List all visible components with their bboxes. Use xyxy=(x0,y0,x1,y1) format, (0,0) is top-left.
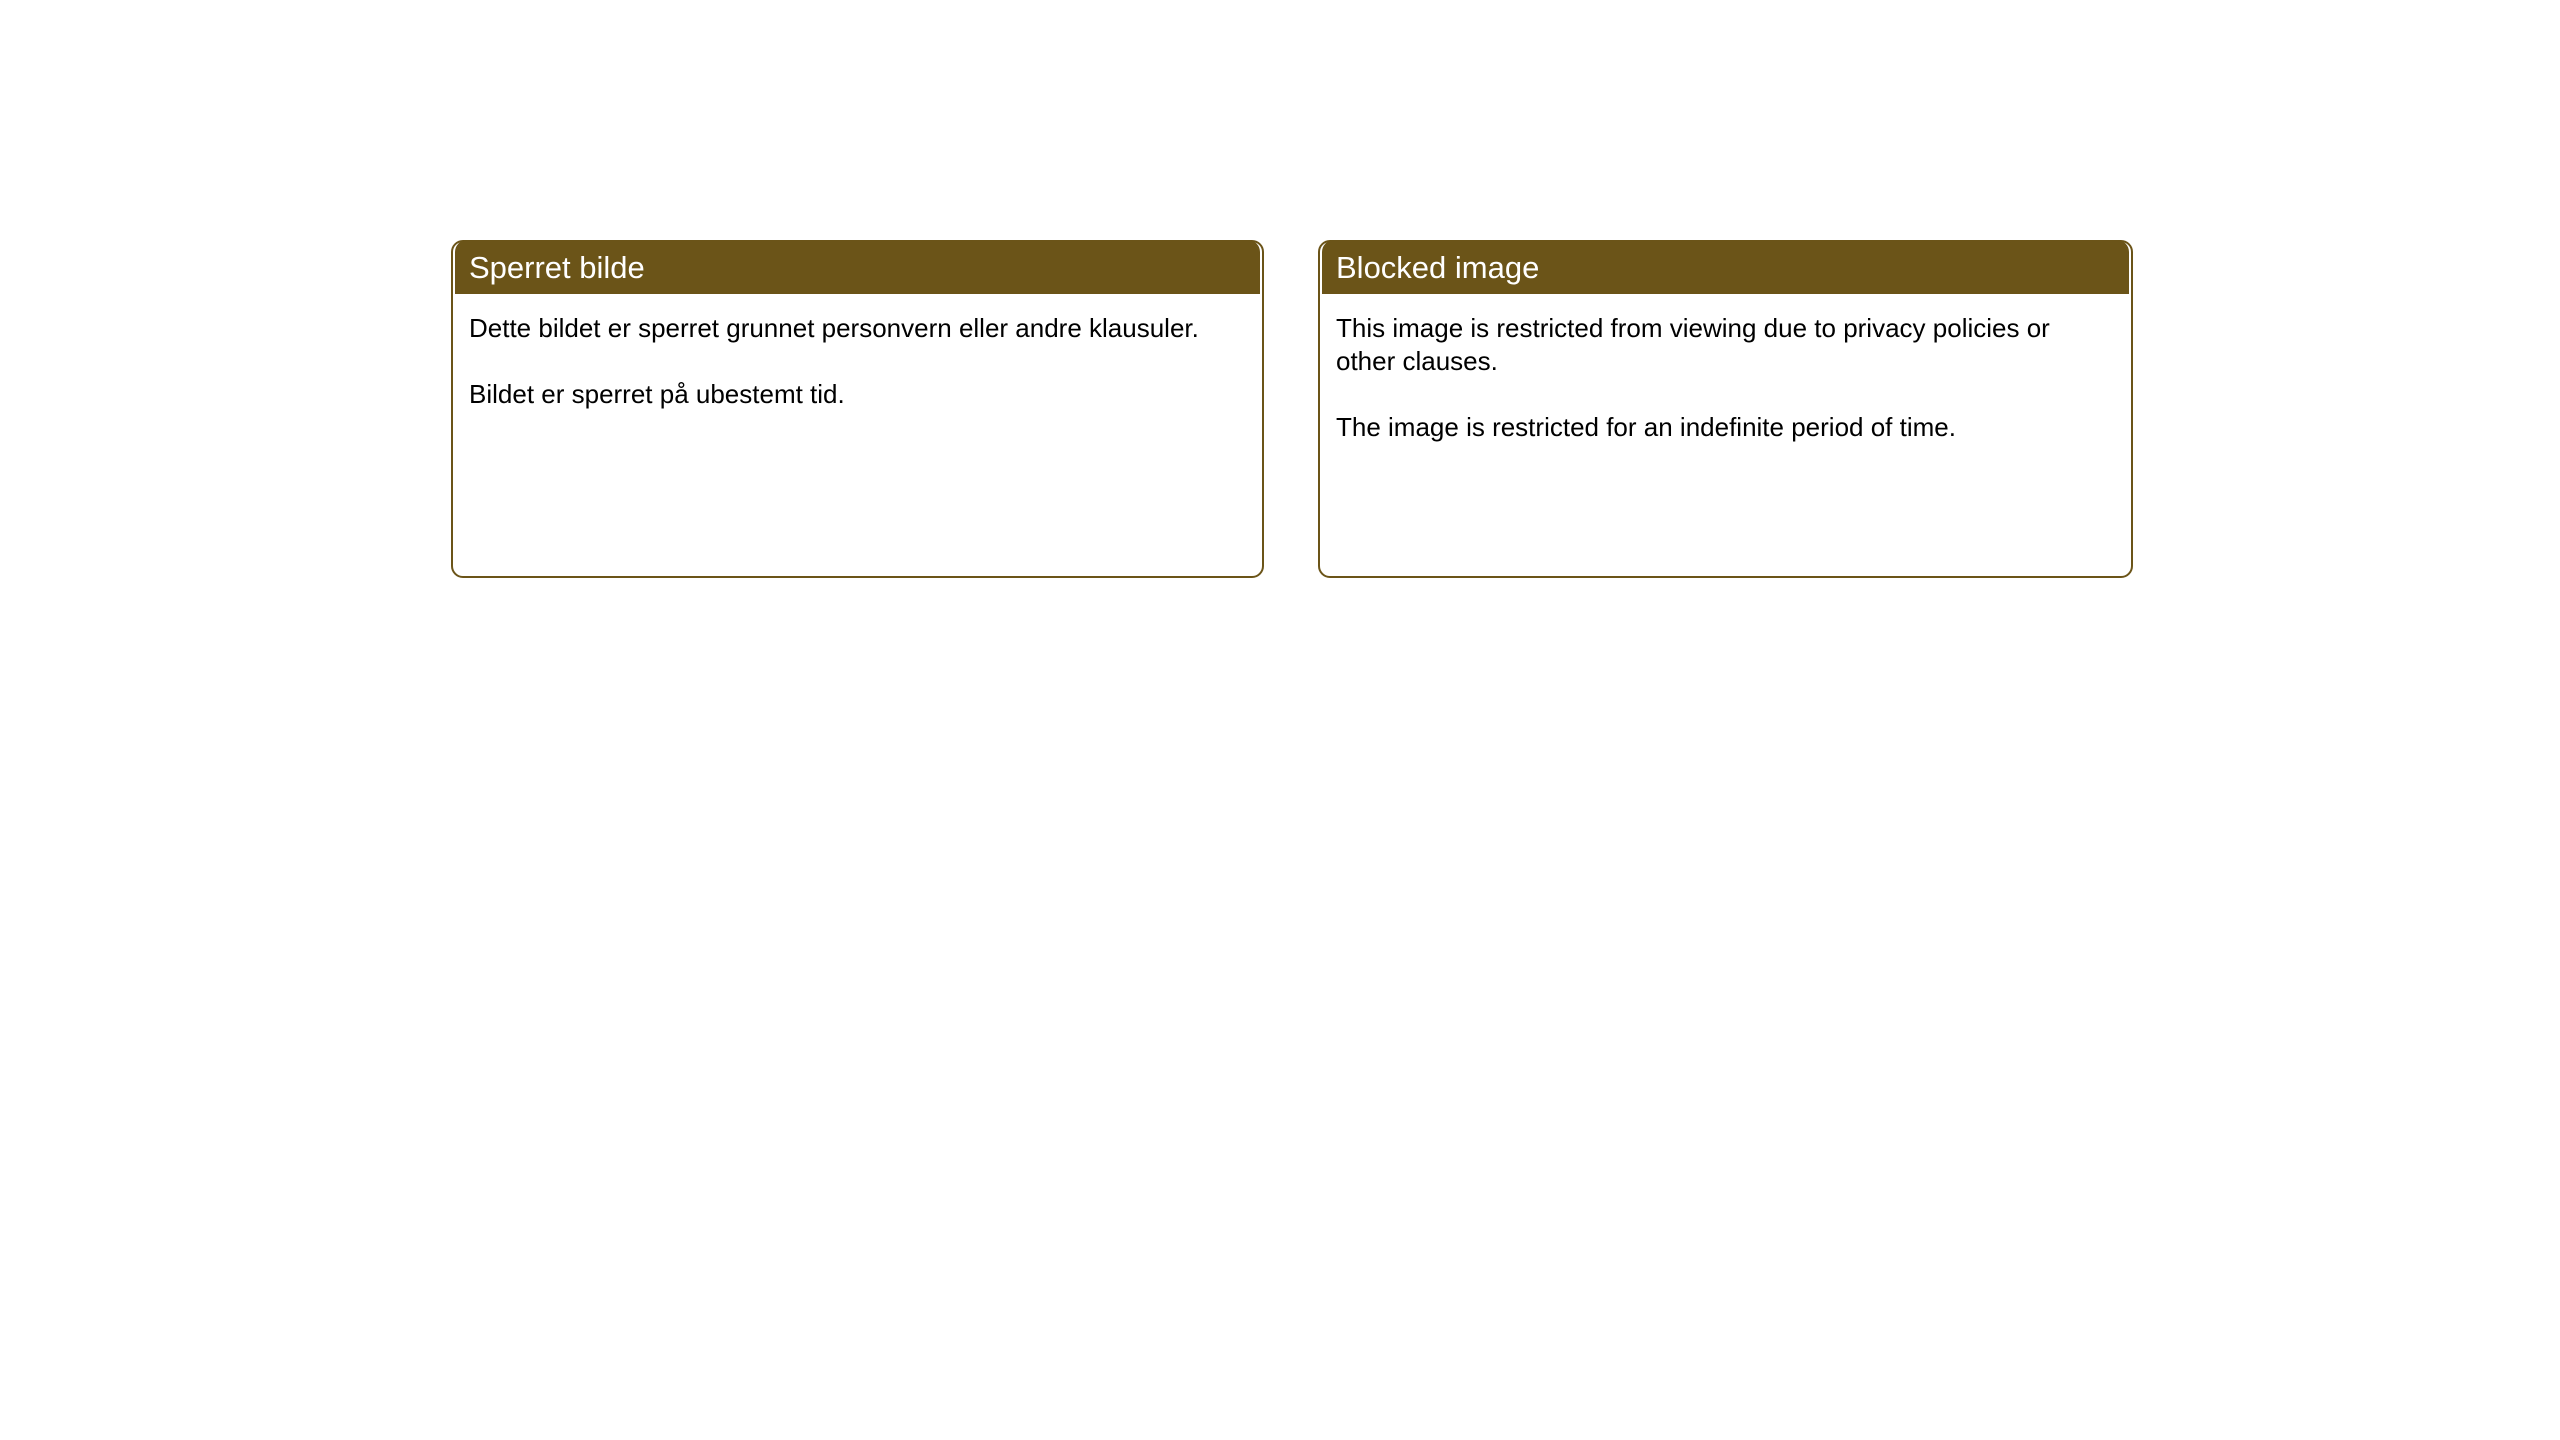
notice-title-english: Blocked image xyxy=(1336,252,1539,283)
notice-paragraph: Bildet er sperret på ubestemt tid. xyxy=(469,378,1246,411)
page-canvas: Sperret bilde Dette bildet er sperret gr… xyxy=(0,0,2560,1440)
notice-header-english: Blocked image xyxy=(1322,240,2129,294)
paragraph-spacer xyxy=(1336,378,2115,411)
notice-paragraph: Dette bildet er sperret grunnet personve… xyxy=(469,312,1246,345)
blocked-image-notice-norwegian: Sperret bilde Dette bildet er sperret gr… xyxy=(451,240,1264,578)
notice-header-norwegian: Sperret bilde xyxy=(455,240,1260,294)
notice-body-norwegian: Dette bildet er sperret grunnet personve… xyxy=(453,294,1262,576)
blocked-image-notice-english: Blocked image This image is restricted f… xyxy=(1318,240,2133,578)
paragraph-spacer xyxy=(469,345,1246,378)
notice-body-english: This image is restricted from viewing du… xyxy=(1320,294,2131,576)
notice-paragraph: The image is restricted for an indefinit… xyxy=(1336,411,2115,444)
notice-title-norwegian: Sperret bilde xyxy=(469,252,645,283)
notice-paragraph: This image is restricted from viewing du… xyxy=(1336,312,2115,378)
